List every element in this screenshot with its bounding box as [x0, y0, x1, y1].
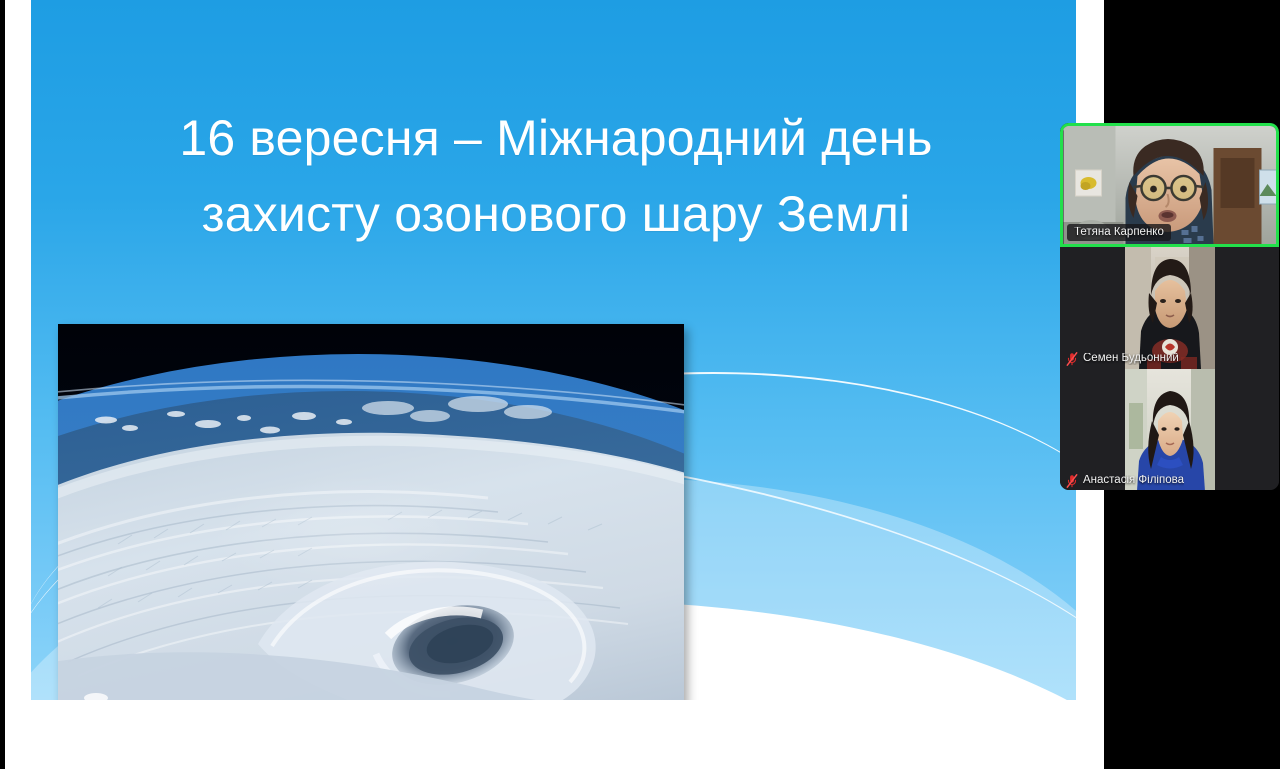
participant-name-bar-0: Тетяна Карпенко [1067, 224, 1171, 241]
participant-name-bar-2: Анастасія Філіпова [1060, 471, 1279, 490]
participant-name-2: Анастасія Філіпова [1083, 475, 1184, 487]
participants-filmstrip[interactable]: Тетяна Карпенко [1060, 123, 1279, 490]
screen-root: 16 вересня – Міжнародний день захисту оз… [0, 0, 1280, 769]
participant-name-1: Семен Будьонний [1083, 353, 1179, 365]
participant-tile-1[interactable]: Семен Будьонний [1060, 247, 1279, 369]
mic-off-icon [1066, 352, 1078, 366]
participant-tile-2[interactable]: Анастасія Філіпова [1060, 369, 1279, 490]
mic-off-icon [1066, 474, 1078, 488]
participant-tile-0[interactable]: Тетяна Карпенко [1060, 123, 1279, 247]
hurricane-from-space-photo [58, 324, 684, 700]
slide-title: 16 вересня – Міжнародний день захисту оз… [91, 100, 1021, 252]
participant-name-0: Тетяна Карпенко [1074, 227, 1164, 239]
slide-canvas[interactable]: 16 вересня – Міжнародний день захисту оз… [31, 0, 1076, 700]
participant-name-bar-1: Семен Будьонний [1060, 349, 1279, 369]
